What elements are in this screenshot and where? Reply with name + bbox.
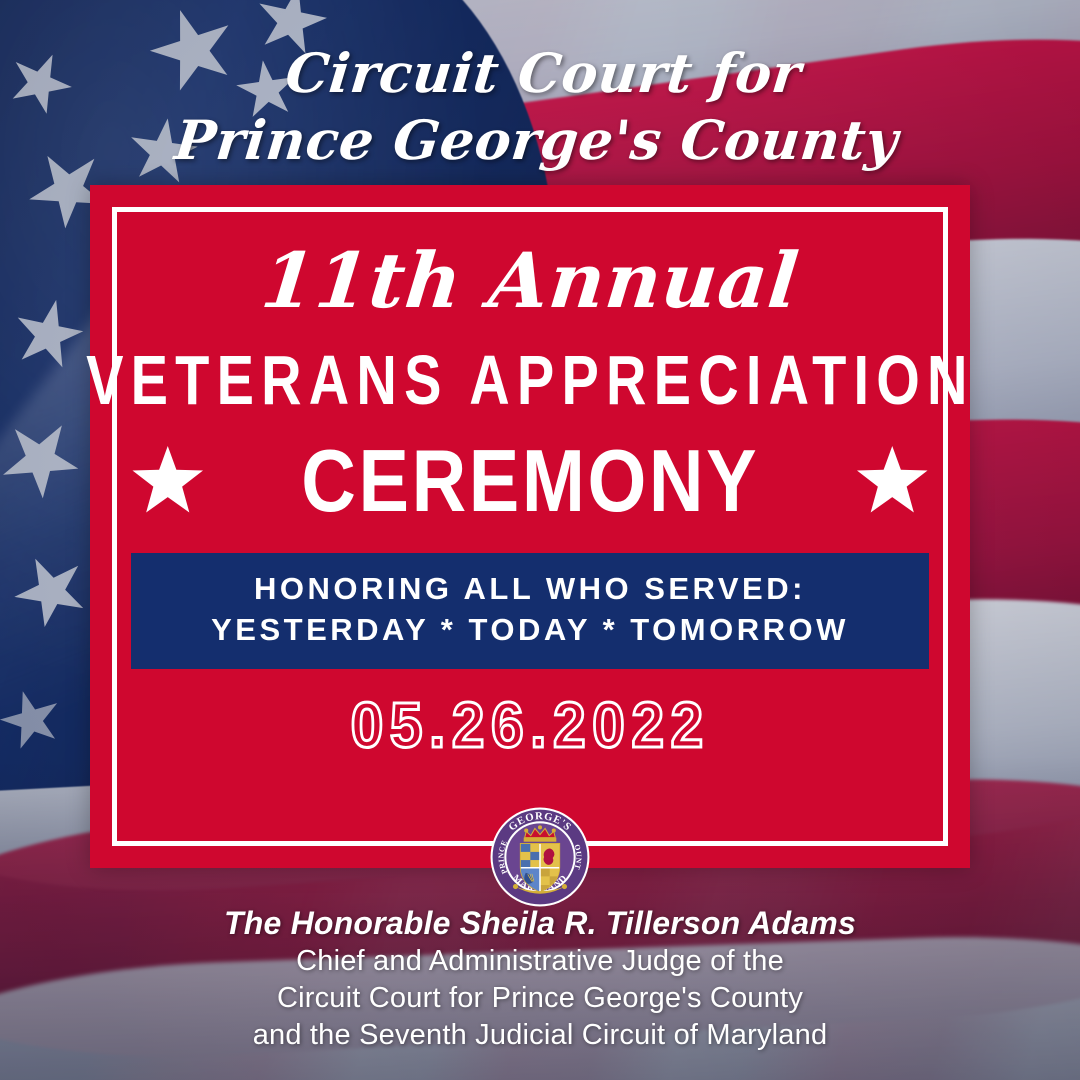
annual-edition-label: 11th Annual xyxy=(258,243,802,319)
star-icon xyxy=(132,446,204,516)
honoring-banner-line1: HONORING ALL WHO SERVED: xyxy=(131,569,929,610)
honoring-banner-line2: YESTERDAY * TODAY * TOMORROW xyxy=(131,610,929,651)
header-title-line1: Circuit Court for xyxy=(0,40,1080,107)
judge-role-line2: Circuit Court for Prince George's County xyxy=(0,980,1080,1017)
header-title: Circuit Court for Prince George's County xyxy=(0,40,1080,174)
star-icon xyxy=(856,446,928,516)
judge-name: The Honorable Sheila R. Tillerson Adams xyxy=(0,905,1080,943)
ceremony-row: CEREMONY xyxy=(90,437,970,525)
judge-credit-block: The Honorable Sheila R. Tillerson Adams … xyxy=(0,905,1080,1054)
prince-georges-county-seal-icon: GEORGE'S MARYLAND PRINCE COUNTY xyxy=(489,806,591,908)
honoring-banner: HONORING ALL WHO SERVED: YESTERDAY * TOD… xyxy=(131,553,929,669)
judge-role-line1: Chief and Administrative Judge of the xyxy=(0,943,1080,980)
event-date-label: 05.26.2022 xyxy=(350,693,709,757)
header-title-line2: Prince George's County xyxy=(0,107,1080,174)
event-type-label: CEREMONY xyxy=(301,437,759,525)
event-name-label: VETERANS APPRECIATION xyxy=(86,345,975,415)
judge-role-line3: and the Seventh Judicial Circuit of Mary… xyxy=(0,1017,1080,1054)
veterans-appreciation-ceremony-poster: Circuit Court for Prince George's County… xyxy=(0,0,1080,1080)
panel-content: 11th Annual VETERANS APPRECIATION CEREMO… xyxy=(90,185,970,868)
event-red-panel: 11th Annual VETERANS APPRECIATION CEREMO… xyxy=(90,185,970,868)
